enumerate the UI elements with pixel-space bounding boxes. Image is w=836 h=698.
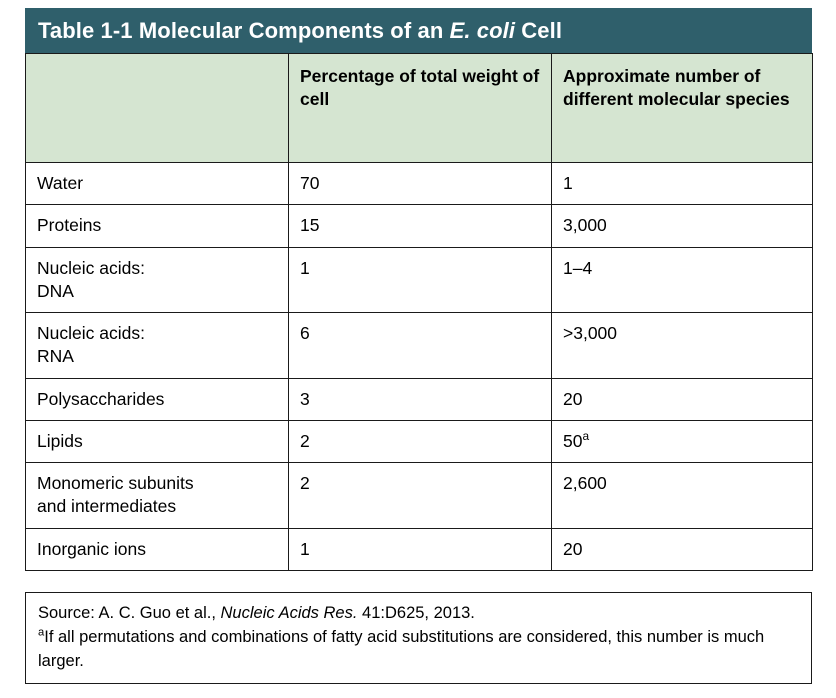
table-title-species: E. coli — [450, 18, 516, 43]
cell-footnote-marker: a — [582, 429, 589, 443]
cell-percentage: 3 — [289, 378, 552, 420]
cell-species-count: 1 — [552, 163, 813, 205]
footnote-source-prefix: Source: A. C. Guo et al., — [38, 604, 221, 622]
cell-species-value: 2,600 — [563, 473, 607, 493]
cell-species-count: >3,000 — [552, 313, 813, 379]
cell-species-value: >3,000 — [563, 323, 617, 343]
cell-percentage: 70 — [289, 163, 552, 205]
cell-species-value: 1 — [563, 173, 573, 193]
column-header-species-count: Approximate number of different molecula… — [552, 54, 813, 163]
cell-percentage: 2 — [289, 463, 552, 529]
table-row: Monomeric subunits and intermediates 2 2… — [26, 463, 813, 529]
cell-species-count: 50a — [552, 420, 813, 462]
cell-percentage: 1 — [289, 528, 552, 570]
cell-species-value: 50 — [563, 431, 582, 451]
molecular-components-table: Percentage of total weight of cell Appro… — [25, 53, 813, 571]
cell-species-value: 20 — [563, 539, 582, 559]
cell-component: Proteins — [26, 205, 289, 247]
table-row: Lipids 2 50a — [26, 420, 813, 462]
cell-species-value: 20 — [563, 389, 582, 409]
cell-percentage: 1 — [289, 247, 552, 313]
table-footnote: Source: A. C. Guo et al., Nucleic Acids … — [25, 592, 812, 684]
cell-percentage: 2 — [289, 420, 552, 462]
cell-species-count: 20 — [552, 528, 813, 570]
footnote-source: Source: A. C. Guo et al., Nucleic Acids … — [38, 602, 799, 625]
cell-component: Water — [26, 163, 289, 205]
cell-component: Nucleic acids: DNA — [26, 247, 289, 313]
table-row: Water 70 1 — [26, 163, 813, 205]
footnote-source-journal: Nucleic Acids Res. — [221, 604, 358, 622]
cell-species-value: 3,000 — [563, 215, 607, 235]
cell-component: Nucleic acids: RNA — [26, 313, 289, 379]
cell-component: Monomeric subunits and intermediates — [26, 463, 289, 529]
table-title-bar: Table 1-1 Molecular Components of an E. … — [25, 8, 812, 53]
cell-species-count: 20 — [552, 378, 813, 420]
cell-component: Inorganic ions — [26, 528, 289, 570]
table-body-wrapper: Percentage of total weight of cell Appro… — [25, 53, 812, 571]
cell-component: Lipids — [26, 420, 289, 462]
table-title-prefix: Table 1-1 Molecular Components of an — [38, 18, 450, 43]
header-row: Percentage of total weight of cell Appro… — [26, 54, 813, 163]
cell-species-count: 2,600 — [552, 463, 813, 529]
table-row: Polysaccharides 3 20 — [26, 378, 813, 420]
table-row: Proteins 15 3,000 — [26, 205, 813, 247]
table-header: Percentage of total weight of cell Appro… — [26, 54, 813, 163]
column-header-component — [26, 54, 289, 163]
cell-species-value: 1–4 — [563, 258, 592, 278]
table-rows: Water 70 1 Proteins 15 3,000 Nucleic aci… — [26, 163, 813, 571]
table-row: Inorganic ions 1 20 — [26, 528, 813, 570]
footnote-source-suffix: 41:D625, 2013. — [357, 604, 474, 622]
cell-percentage: 6 — [289, 313, 552, 379]
column-header-percentage: Percentage of total weight of cell — [289, 54, 552, 163]
cell-species-count: 3,000 — [552, 205, 813, 247]
cell-species-count: 1–4 — [552, 247, 813, 313]
cell-percentage: 15 — [289, 205, 552, 247]
table-title-suffix: Cell — [515, 18, 562, 43]
footnote-note: aIf all permutations and combinations of… — [38, 626, 799, 673]
cell-component: Polysaccharides — [26, 378, 289, 420]
table-figure: Table 1-1 Molecular Components of an E. … — [0, 0, 836, 698]
footnote-note-text: If all permutations and combinations of … — [38, 628, 764, 669]
table-row: Nucleic acids: RNA 6 >3,000 — [26, 313, 813, 379]
table-row: Nucleic acids: DNA 1 1–4 — [26, 247, 813, 313]
